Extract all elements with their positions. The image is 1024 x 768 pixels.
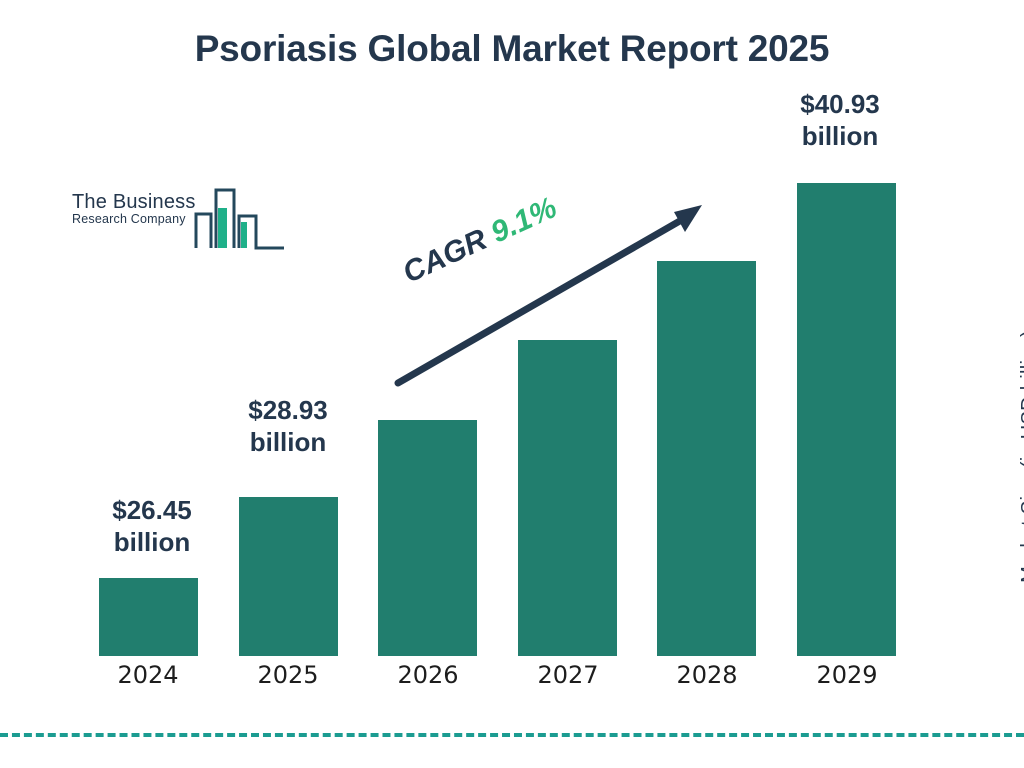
bar-baseline-2029 xyxy=(797,653,896,656)
bar-2029 xyxy=(797,183,896,653)
bar-2025 xyxy=(239,497,338,653)
bar-2028 xyxy=(657,261,756,653)
value-label-2029-unit: billion xyxy=(790,120,890,152)
bar-baseline-2024 xyxy=(99,653,198,656)
bar-baseline-2027 xyxy=(518,653,617,656)
value-label-2024: $26.45 billion xyxy=(104,494,200,558)
x-axis-label-2026: 2026 xyxy=(368,661,488,689)
x-axis-label-2029: 2029 xyxy=(787,661,907,689)
x-axis-label-2025: 2025 xyxy=(228,661,348,689)
bar-baseline-2025 xyxy=(239,653,338,656)
x-axis-label-2024: 2024 xyxy=(88,661,208,689)
bar-baseline-2028 xyxy=(657,653,756,656)
x-axis-label-2027: 2027 xyxy=(508,661,628,689)
value-label-2025-unit: billion xyxy=(240,426,336,458)
y-axis-title: Market Size (in USD billion) xyxy=(1018,330,1024,583)
value-label-2024-amount: $26.45 xyxy=(104,494,200,526)
value-label-2025-amount: $28.93 xyxy=(240,394,336,426)
value-label-2024-unit: billion xyxy=(104,526,200,558)
bar-baseline-2026 xyxy=(378,653,477,656)
bar-2024 xyxy=(99,578,198,653)
bottom-divider xyxy=(0,733,1024,737)
value-label-2025: $28.93 billion xyxy=(240,394,336,458)
bar-2026 xyxy=(378,420,477,653)
x-axis-label-2028: 2028 xyxy=(647,661,767,689)
bar-2027 xyxy=(518,340,617,653)
infographic-canvas: Psoriasis Global Market Report 2025 The … xyxy=(0,0,1024,768)
value-label-2029-amount: $40.93 xyxy=(790,88,890,120)
value-label-2029: $40.93 billion xyxy=(790,88,890,152)
